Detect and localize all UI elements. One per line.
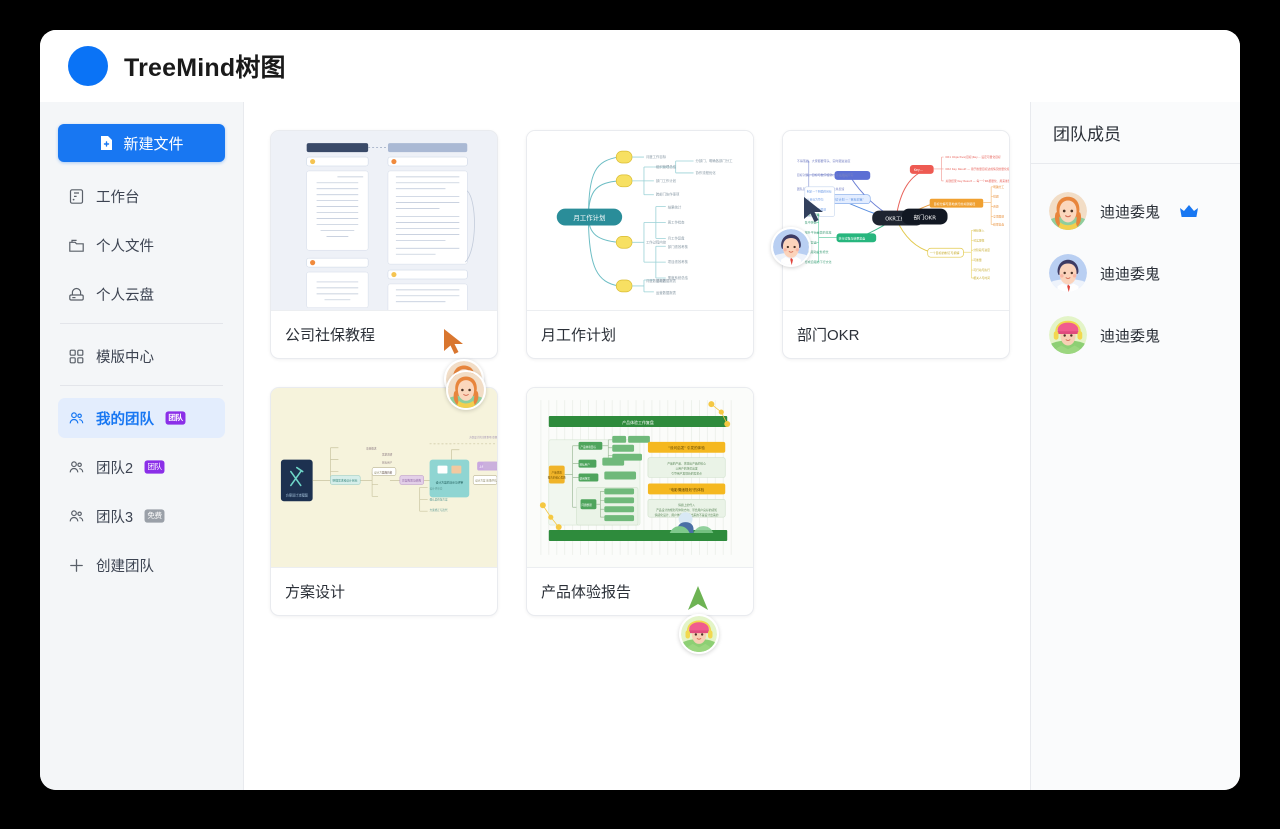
card-title: 方案设计 [271,568,497,615]
svg-text:月工作复盘: 月工作复盘 [668,235,685,240]
svg-text:KR1 Objective(目标)Key… 设定可量化目标: KR1 Objective(目标)Key… 设定可量化目标 [946,155,1001,159]
sidebar: 新建文件 工作台 个人文件 [40,102,244,790]
svg-text:方案构思与结构: 方案构思与结构 [402,478,422,482]
app-logo-icon [68,46,108,86]
svg-text:月度工作目标: 月度工作目标 [646,154,667,159]
sidebar-item-label: 团队3 [96,506,133,527]
sidebar-item-label: 创建团队 [96,555,154,576]
mindmap-preview-product-report: 产品体验工作复盘 产品体验 报告的核心思路 产品体验目标 [527,388,753,567]
svg-text:月工作计划: 月工作计划 [573,213,605,222]
collab-avatar-orange-2 [446,370,486,410]
svg-text:立项跟进: 立项跟进 [993,215,1004,219]
team-members-panel: 团队成员 [1030,102,1240,790]
svg-text:设计方案的演示与评审: 设计方案的演示与评审 [436,480,464,484]
app-window: TreeMind树图 新建文件 工作台 [40,30,1240,790]
workbench-icon [68,188,85,205]
mindmap-preview-okr: OKR工作法 部门OKR 个人目标 不得落后、大家都要带头、实时跟进进度 目标对… [783,131,1009,310]
sidebar-item-workbench[interactable]: 工作台 [58,176,225,216]
file-card[interactable]: 公司社保教程 [270,130,498,359]
avatar-green-person [681,616,717,652]
svg-text:排期: 排期 [993,195,999,199]
file-grid-area: 公司社保教程 [244,102,1030,790]
team-icon [68,410,85,427]
crown-icon [1179,204,1199,218]
file-card[interactable]: 月工作计划 [526,130,754,359]
cloud-drive-icon [68,286,85,303]
svg-text:形成自驱力下行文化: 形成自驱力下行文化 [805,259,832,264]
svg-text:可行动与执行: 可行动与执行 [973,268,990,272]
sidebar-item-create-team[interactable]: 创建团队 [58,545,225,585]
member-row[interactable]: 迪迪委鬼 [1031,180,1240,242]
svg-text:可实现性: 可实现性 [973,238,984,242]
sidebar-item-team2[interactable]: 团队2 团队 [58,447,225,487]
sidebar-item-label: 团队2 [96,457,133,478]
sidebar-item-my-team[interactable]: 我的团队 团队 [58,398,225,438]
member-row[interactable]: 迪迪委鬼 [1031,242,1240,304]
svg-text:方案设计流程图: 方案设计流程图 [286,492,308,497]
svg-text:问题整理: 问题整理 [582,503,593,507]
page-title: TreeMind树图 [124,48,286,84]
svg-text:目标对焦、目标与数字挂钩、负责跟踪落实: 目标对焦、目标与数字挂钩、负责跟踪落实 [797,172,853,177]
avatar [1049,192,1087,230]
status-badge: 团队 [145,460,165,473]
svg-text:使用场景: 使用场景 [580,476,591,480]
svg-text:以目标为导向: 以目标为导向 [807,198,824,202]
svg-text:竞品分析: 竞品分析 [382,471,393,475]
svg-text:部门绩效考核: 部门绩效考核 [668,244,689,249]
svg-text:KR2 Key Result — 用于衡量目标达成情况的量化: KR2 Key Result — 用于衡量目标达成情况的量化指标 [946,167,1009,171]
svg-text:产品体验目标: 产品体验目标 [581,445,597,449]
svg-text:目标执行与跟进: 目标执行与跟进 [807,208,827,212]
avatar-orange-girl [448,372,484,408]
card-grid: 公司社保教程 [270,130,1030,616]
svg-text:协作流程优化: 协作流程优化 [696,170,717,175]
sidebar-divider-2 [60,385,223,386]
svg-text:项目绩效考核: 项目绩效考核 [668,259,689,264]
member-name: 迪迪委鬼 [1100,201,1160,222]
avatar [1049,254,1087,292]
sidebar-divider-1 [60,323,223,324]
status-badge: 团队 [166,411,186,424]
sidebar-item-label: 我的团队 [96,408,154,429]
svg-text:分部门、明确各部门分工: 分部门、明确各部门分工 [696,158,734,163]
svg-text:结果复盘: 结果复盘 [993,222,1004,226]
member-name: 迪迪委鬼 [1100,263,1160,284]
member-name: 迪迪委鬼 [1100,325,1160,346]
svg-text:"设问启发" 引发的体验: "设问启发" 引发的体验 [668,445,705,450]
team-members-list: 迪迪委鬼 [1031,164,1240,366]
sidebar-item-label: 模版中心 [96,346,154,367]
svg-text:产品体验: 产品体验 [552,471,563,475]
card-title: 公司社保教程 [271,311,497,358]
sidebar-item-label: 个人文件 [96,235,154,256]
file-card[interactable]: 方案设计流程图 明确需求和设计目标 [270,387,498,616]
sidebar-item-label: 个人云盘 [96,284,154,305]
app-header: TreeMind树图 [40,30,1240,102]
mindmap-preview-monthly-plan: 月工作计划 [527,131,753,310]
new-file-label: 新建文件 [123,133,183,154]
svg-text:目标拆入: 目标拆入 [973,228,984,232]
card-title: 产品体验报告 [527,568,753,615]
avatar-blue-boy [1049,254,1087,292]
svg-text:资源: 资源 [993,205,999,209]
sidebar-item-personal-cloud[interactable]: 个人云盘 [58,274,225,314]
grid-icon [68,348,85,365]
svg-text:活动数据报表: 活动数据报表 [656,278,677,283]
svg-text:结果统计: 结果统计 [668,205,682,210]
file-card[interactable]: OKR工作法 部门OKR 个人目标 不得落后、大家都要带头、实时跟进进度 目标对… [782,130,1010,359]
svg-text:目标分解与落地执行的关键路径: 目标分解与落地执行的关键路径 [934,201,976,206]
team-icon [68,508,85,525]
svg-text:组织管理总结: 组织管理总结 [656,164,677,169]
svg-text:项目概述: 项目概述 [366,447,377,451]
sidebar-item-personal-files[interactable]: 个人文件 [58,225,225,265]
svg-text:目标用户: 目标用户 [382,461,393,465]
sidebar-item-label: 工作台 [96,186,140,207]
sidebar-nav: 工作台 个人文件 个人云盘 [58,176,225,594]
svg-text:行动与复盘: 行动与复盘 [805,212,820,217]
app-body: 新建文件 工作台 个人文件 [40,102,1240,790]
svg-text:Key…: Key… [914,168,923,172]
svg-text:引导用户发现新的需求点: 引导用户发现新的需求点 [671,472,702,476]
svg-text:运营数据报表: 运营数据报表 [656,290,677,295]
svg-text:执行过程与结果复盘: 执行过程与结果复盘 [839,235,866,240]
svg-text:跨部门协作事项: 跨部门协作事项 [656,192,680,197]
avatar-green-person [1049,316,1087,354]
svg-text:周工作检查: 周工作检查 [668,219,685,224]
svg-text:需求调研: 需求调研 [382,453,393,457]
card-thumbnail: OKR工作法 部门OKR 个人目标 不得落后、大家都要带头、实时跟进进度 目标对… [783,131,1009,311]
svg-text:相关人与时间: 相关人与时间 [973,276,990,280]
svg-text:部门OKR: 部门OKR [913,214,936,222]
card-thumbnail [271,131,497,311]
card-thumbnail: 月工作计划 [527,131,753,311]
svg-text:以用户的场景出发: 以用户的场景出发 [676,467,698,471]
plus-icon [68,557,85,574]
svg-text:提升平台运营的基准: 提升平台运营的基准 [805,229,832,234]
team-members-title: 团队成员 [1031,102,1240,164]
svg-text:明确分工: 明确分工 [993,185,1004,189]
svg-text:方案修正与迭代: 方案修正与迭代 [430,508,448,512]
svg-text:情绪上的代入: 情绪上的代入 [678,503,695,507]
status-badge: 免费 [145,509,165,522]
svg-text:可衡量: 可衡量 [973,258,982,262]
svg-text:目标用户: 目标用户 [580,463,591,467]
member-row[interactable]: 迪迪委鬼 [1031,304,1240,366]
mindmap-preview-scheme-design: 方案设计流程图 明确需求和设计目标 [271,388,497,567]
svg-text:产品体验工作复盘: 产品体验工作复盘 [622,420,654,425]
svg-text:制订计划 — "目标对焦": 制订计划 — "目标对焦" [833,197,865,202]
card-title: 部门OKR [783,311,1009,358]
svg-text:方案设计的注意事项 查漏补缺: 方案设计的注意事项 查漏补缺 [469,435,497,439]
card-thumbnail: 产品体验工作复盘 产品体验 报告的核心思路 产品体验目标 [527,388,753,568]
team-icon [68,459,85,476]
file-plus-icon [99,135,114,151]
avatar-blue-boy [773,229,809,265]
svg-text:集中突破: 集中突破 [805,219,817,224]
svg-text:报告的核心思路: 报告的核心思路 [548,475,566,479]
card-title: 月工作计划 [527,311,753,358]
svg-text:设计方案 效果评估反馈: 设计方案 效果评估反馈 [475,478,497,482]
svg-text:部门工作计划: 部门工作计划 [656,178,677,183]
collab-avatar-green [679,614,719,654]
svg-text:确认最终版方案: 确认最终版方案 [430,497,448,501]
new-file-button[interactable]: 新建文件 [58,124,225,162]
avatar [1049,316,1087,354]
svg-text:关键结果 Key Result — 每一个KR都量化、用来衡: 关键结果 Key Result — 每一个KR都量化、用来衡量该目标的实现程度 [946,179,1009,183]
svg-text:设计评审会: 设计评审会 [430,486,443,490]
sidebar-item-team3[interactable]: 团队3 免费 [58,496,225,536]
svg-text:一个目标的制订与拆解: 一个目标的制订与拆解 [930,250,960,255]
svg-text:"电影情绪规划"的体验: "电影情绪规划"的体验 [669,487,705,492]
card-thumbnail: 方案设计流程图 明确需求和设计目标 [271,388,497,568]
mindmap-preview-social-insurance [271,131,497,310]
file-card[interactable]: 产品体验工作复盘 产品体验 报告的核心思路 产品体验目标 [526,387,754,616]
svg-text:工作过程内控: 工作过程内控 [646,239,667,244]
sidebar-item-template-center[interactable]: 模版中心 [58,336,225,376]
svg-text:产品设计的规划与体验方向、带给用户良好的感知: 产品设计的规划与体验方向、带给用户良好的感知 [656,508,717,512]
svg-text:分阶段与进度: 分阶段与进度 [973,248,990,252]
collab-avatar-blue [771,227,811,267]
folder-icon [68,237,85,254]
svg-text:不得落后、大家都要带头、实时跟进进度: 不得落后、大家都要带头、实时跟进进度 [797,158,850,163]
svg-text:明确需求和设计目标: 明确需求和设计目标 [332,478,357,482]
svg-text:制定一个明确的目标: 制定一个明确的目标 [807,190,832,194]
svg-text:产品的产品、体验出产品的核心: 产品的产品、体验出产品的核心 [667,462,706,466]
avatar-orange-girl [1049,192,1087,230]
